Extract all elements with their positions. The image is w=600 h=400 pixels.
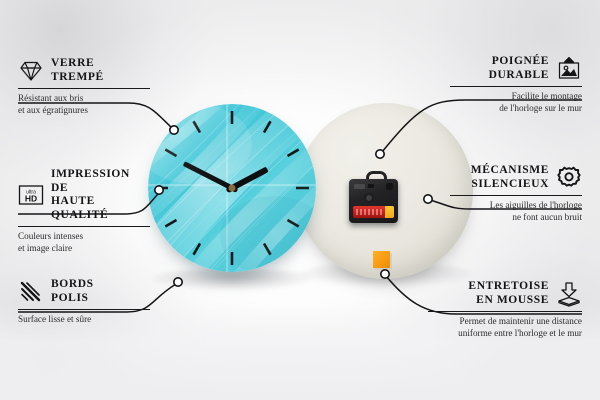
diamond-icon xyxy=(18,58,44,84)
movement-detail-1 xyxy=(354,184,365,189)
feature-mecanisme-silencieux: MÉCANISME SILENCIEUX Les aiguilles de l'… xyxy=(450,164,582,223)
battery-positive-terminal xyxy=(385,206,394,218)
movement-dial-knob xyxy=(364,193,374,203)
ultra-hd-icon: ultra HD xyxy=(18,182,44,208)
feature-title: IMPRESSION DE HAUTE QUALITÉ xyxy=(51,168,150,222)
feature-header: ENTRETOISE EN MOUSSE xyxy=(428,280,582,307)
svg-text:HD: HD xyxy=(25,194,37,204)
polished-edges-icon xyxy=(18,279,44,305)
clock-face xyxy=(148,104,316,272)
feature-title: VERRE TREMPÉ xyxy=(51,57,104,84)
feature-bords-polis: BORDS POLIS Surface lisse et sûre xyxy=(18,278,150,326)
feature-divider xyxy=(450,86,582,87)
feature-description: Facilite le montage de l'horloge sur le … xyxy=(450,91,582,114)
gear-icon xyxy=(556,165,582,191)
feature-header: ultra HD IMPRESSION DE HAUTE QUALITÉ xyxy=(18,168,150,222)
foam-spacer-pad xyxy=(373,251,390,268)
feature-description: Résistant aux bris et aux égratignures xyxy=(18,93,150,116)
battery-label xyxy=(356,209,382,215)
feature-poignee-durable: POIGNÉE DURABLE Facilite le montage de l… xyxy=(450,55,582,114)
movement-detail-3 xyxy=(386,183,393,190)
feature-title: ENTRETOISE EN MOUSSE xyxy=(468,280,549,307)
feature-title: BORDS POLIS xyxy=(51,278,94,305)
feature-header: BORDS POLIS xyxy=(18,278,150,305)
feature-header: MÉCANISME SILENCIEUX xyxy=(450,164,582,191)
feature-description: Couleurs intenses et image claire xyxy=(18,231,150,254)
movement-detail-2 xyxy=(368,184,374,188)
foam-spacer-icon xyxy=(556,281,582,307)
feature-title: MÉCANISME SILENCIEUX xyxy=(471,164,549,191)
feature-description: Les aiguilles de l'horloge ne font aucun… xyxy=(450,200,582,223)
feature-header: VERRE TREMPÉ xyxy=(18,57,150,84)
feature-divider xyxy=(18,226,150,227)
picture-hanger-icon xyxy=(556,56,582,82)
feature-divider xyxy=(18,309,150,310)
feature-verre-trempe: VERRE TREMPÉ Résistant aux bris et aux é… xyxy=(18,57,150,116)
feature-description: Surface lisse et sûre xyxy=(18,314,150,326)
feature-title: POIGNÉE DURABLE xyxy=(489,55,549,82)
feature-divider xyxy=(428,311,582,312)
infographic-canvas: VERRE TREMPÉ Résistant aux bris et aux é… xyxy=(0,0,600,400)
feature-entretoise-en-mousse: ENTRETOISE EN MOUSSE Permet de maintenir… xyxy=(428,280,582,339)
feature-divider xyxy=(18,88,150,89)
feature-divider xyxy=(450,195,582,196)
feature-description: Permet de maintenir une distance uniform… xyxy=(428,316,582,339)
feature-header: POIGNÉE DURABLE xyxy=(450,55,582,82)
feature-impression-haute-qualite: ultra HD IMPRESSION DE HAUTE QUALITÉ Cou… xyxy=(18,168,150,254)
clock-hand-center-cap xyxy=(229,185,236,192)
